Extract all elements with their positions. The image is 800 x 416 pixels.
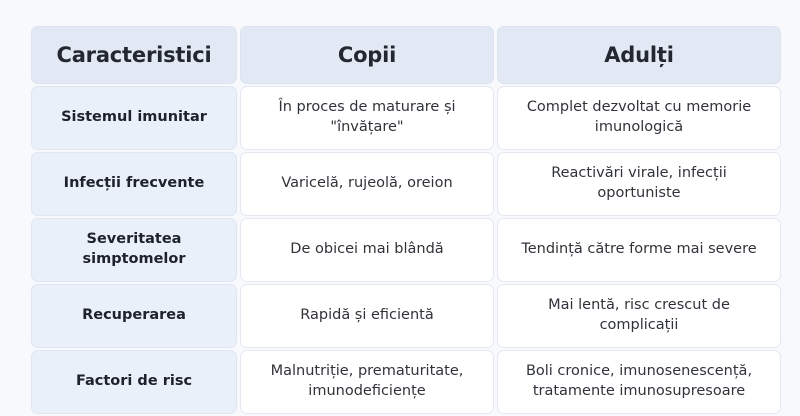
feature-label: Factori de risc — [31, 350, 237, 414]
adults-value: Reactivări virale, infecții oportuniste — [497, 152, 781, 216]
children-value: În proces de maturare și "învățare" — [240, 86, 494, 150]
table-row: Infecții frecvente Varicelă, rujeolă, or… — [31, 152, 781, 216]
header-row: Caracteristici Copii Adulți — [31, 26, 781, 84]
children-value: Varicelă, rujeolă, oreion — [240, 152, 494, 216]
children-value: Malnutriție, prematuritate, imunodeficie… — [240, 350, 494, 414]
feature-label: Infecții frecvente — [31, 152, 237, 216]
column-header-copii: Copii — [240, 26, 494, 84]
comparison-table-container: Caracteristici Copii Adulți Sistemul imu… — [28, 24, 772, 368]
feature-label: Recuperarea — [31, 284, 237, 348]
table-body: Sistemul imunitar În proces de maturare … — [31, 86, 781, 414]
adults-value: Complet dezvoltat cu memorie imunologică — [497, 86, 781, 150]
table-row: Factori de risc Malnutriție, prematurita… — [31, 350, 781, 414]
column-header-adulti: Adulți — [497, 26, 781, 84]
feature-label: Sistemul imunitar — [31, 86, 237, 150]
table-row: Recuperarea Rapidă și eficientă Mai lent… — [31, 284, 781, 348]
table-row: Severitatea simptomelor De obicei mai bl… — [31, 218, 781, 282]
table-header: Caracteristici Copii Adulți — [31, 26, 781, 84]
table-row: Sistemul imunitar În proces de maturare … — [31, 86, 781, 150]
adults-value: Boli cronice, imunosenescență, tratament… — [497, 350, 781, 414]
children-value: De obicei mai blândă — [240, 218, 494, 282]
feature-label: Severitatea simptomelor — [31, 218, 237, 282]
adults-value: Mai lentă, risc crescut de complicații — [497, 284, 781, 348]
adults-value: Tendință către forme mai severe — [497, 218, 781, 282]
column-header-caracteristici: Caracteristici — [31, 26, 237, 84]
comparison-table: Caracteristici Copii Adulți Sistemul imu… — [28, 24, 784, 416]
children-value: Rapidă și eficientă — [240, 284, 494, 348]
